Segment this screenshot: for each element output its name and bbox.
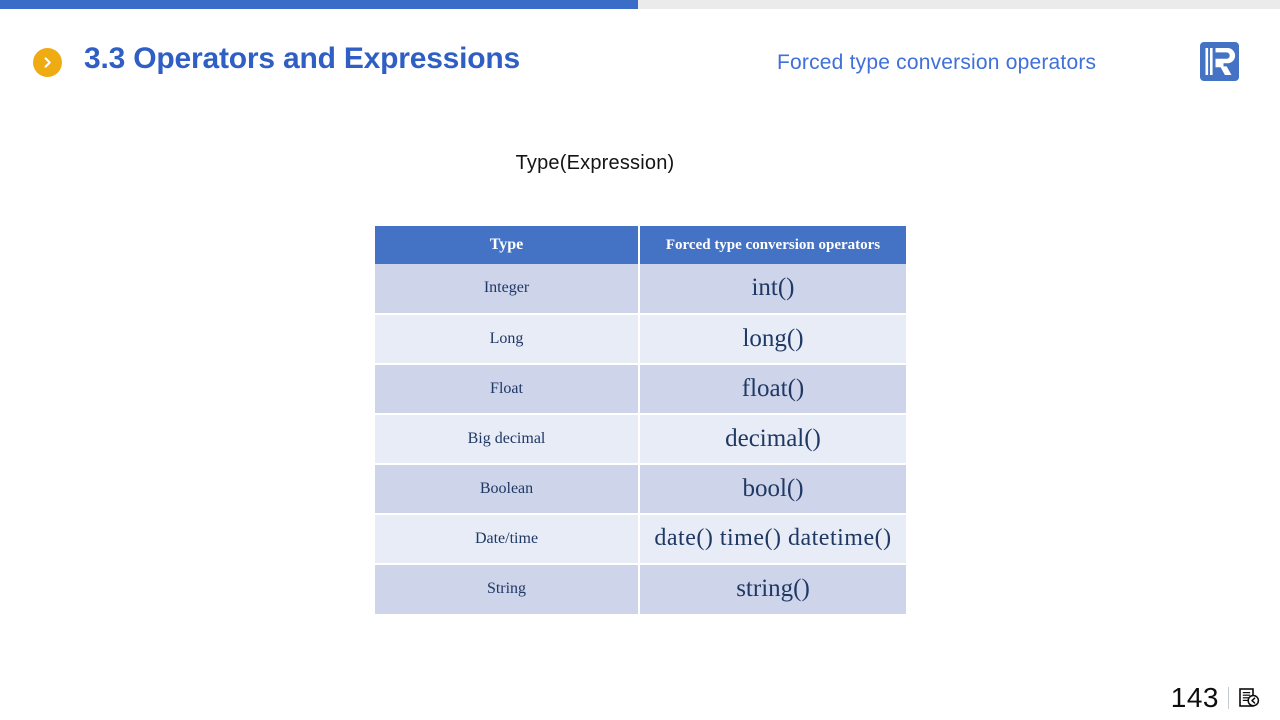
slide-progress-fill	[0, 0, 638, 9]
table-row: Long long()	[375, 314, 906, 364]
slide-subtitle: Forced type conversion operators	[777, 51, 1096, 75]
cell-type: String	[375, 564, 639, 614]
cell-type: Date/time	[375, 514, 639, 564]
cell-type: Big decimal	[375, 414, 639, 464]
cell-operator: decimal()	[639, 414, 906, 464]
type-conversion-table: Type Forced type conversion operators In…	[375, 226, 906, 614]
slide-footer: 143	[1171, 684, 1260, 712]
expression-caption: Type(Expression)	[0, 152, 1190, 175]
cell-operator: date() time() datetime()	[639, 514, 906, 564]
book-r-logo-icon	[1197, 39, 1242, 84]
page-title: 3.3 Operators and Expressions	[84, 42, 520, 76]
table-row: Boolean bool()	[375, 464, 906, 514]
table-row: String string()	[375, 564, 906, 614]
cell-operator: bool()	[639, 464, 906, 514]
cell-operator: long()	[639, 314, 906, 364]
table-row: Float float()	[375, 364, 906, 414]
table-row: Date/time date() time() datetime()	[375, 514, 906, 564]
document-back-icon[interactable]	[1238, 687, 1260, 709]
footer-divider	[1228, 687, 1229, 709]
cell-type: Integer	[375, 264, 639, 314]
cell-type: Float	[375, 364, 639, 414]
column-header-operators: Forced type conversion operators	[639, 226, 906, 264]
cell-operator: float()	[639, 364, 906, 414]
cell-operator: int()	[639, 264, 906, 314]
cell-operator: string()	[639, 564, 906, 614]
cell-type: Boolean	[375, 464, 639, 514]
slide-progress-track	[0, 0, 1280, 9]
table-row: Big decimal decimal()	[375, 414, 906, 464]
page-number: 143	[1171, 684, 1219, 712]
slide-header: 3.3 Operators and Expressions Forced typ…	[0, 9, 1280, 97]
column-header-type: Type	[375, 226, 639, 264]
table-row: Integer int()	[375, 264, 906, 314]
table-header-row: Type Forced type conversion operators	[375, 226, 906, 264]
chevron-right-icon	[33, 48, 62, 77]
cell-type: Long	[375, 314, 639, 364]
